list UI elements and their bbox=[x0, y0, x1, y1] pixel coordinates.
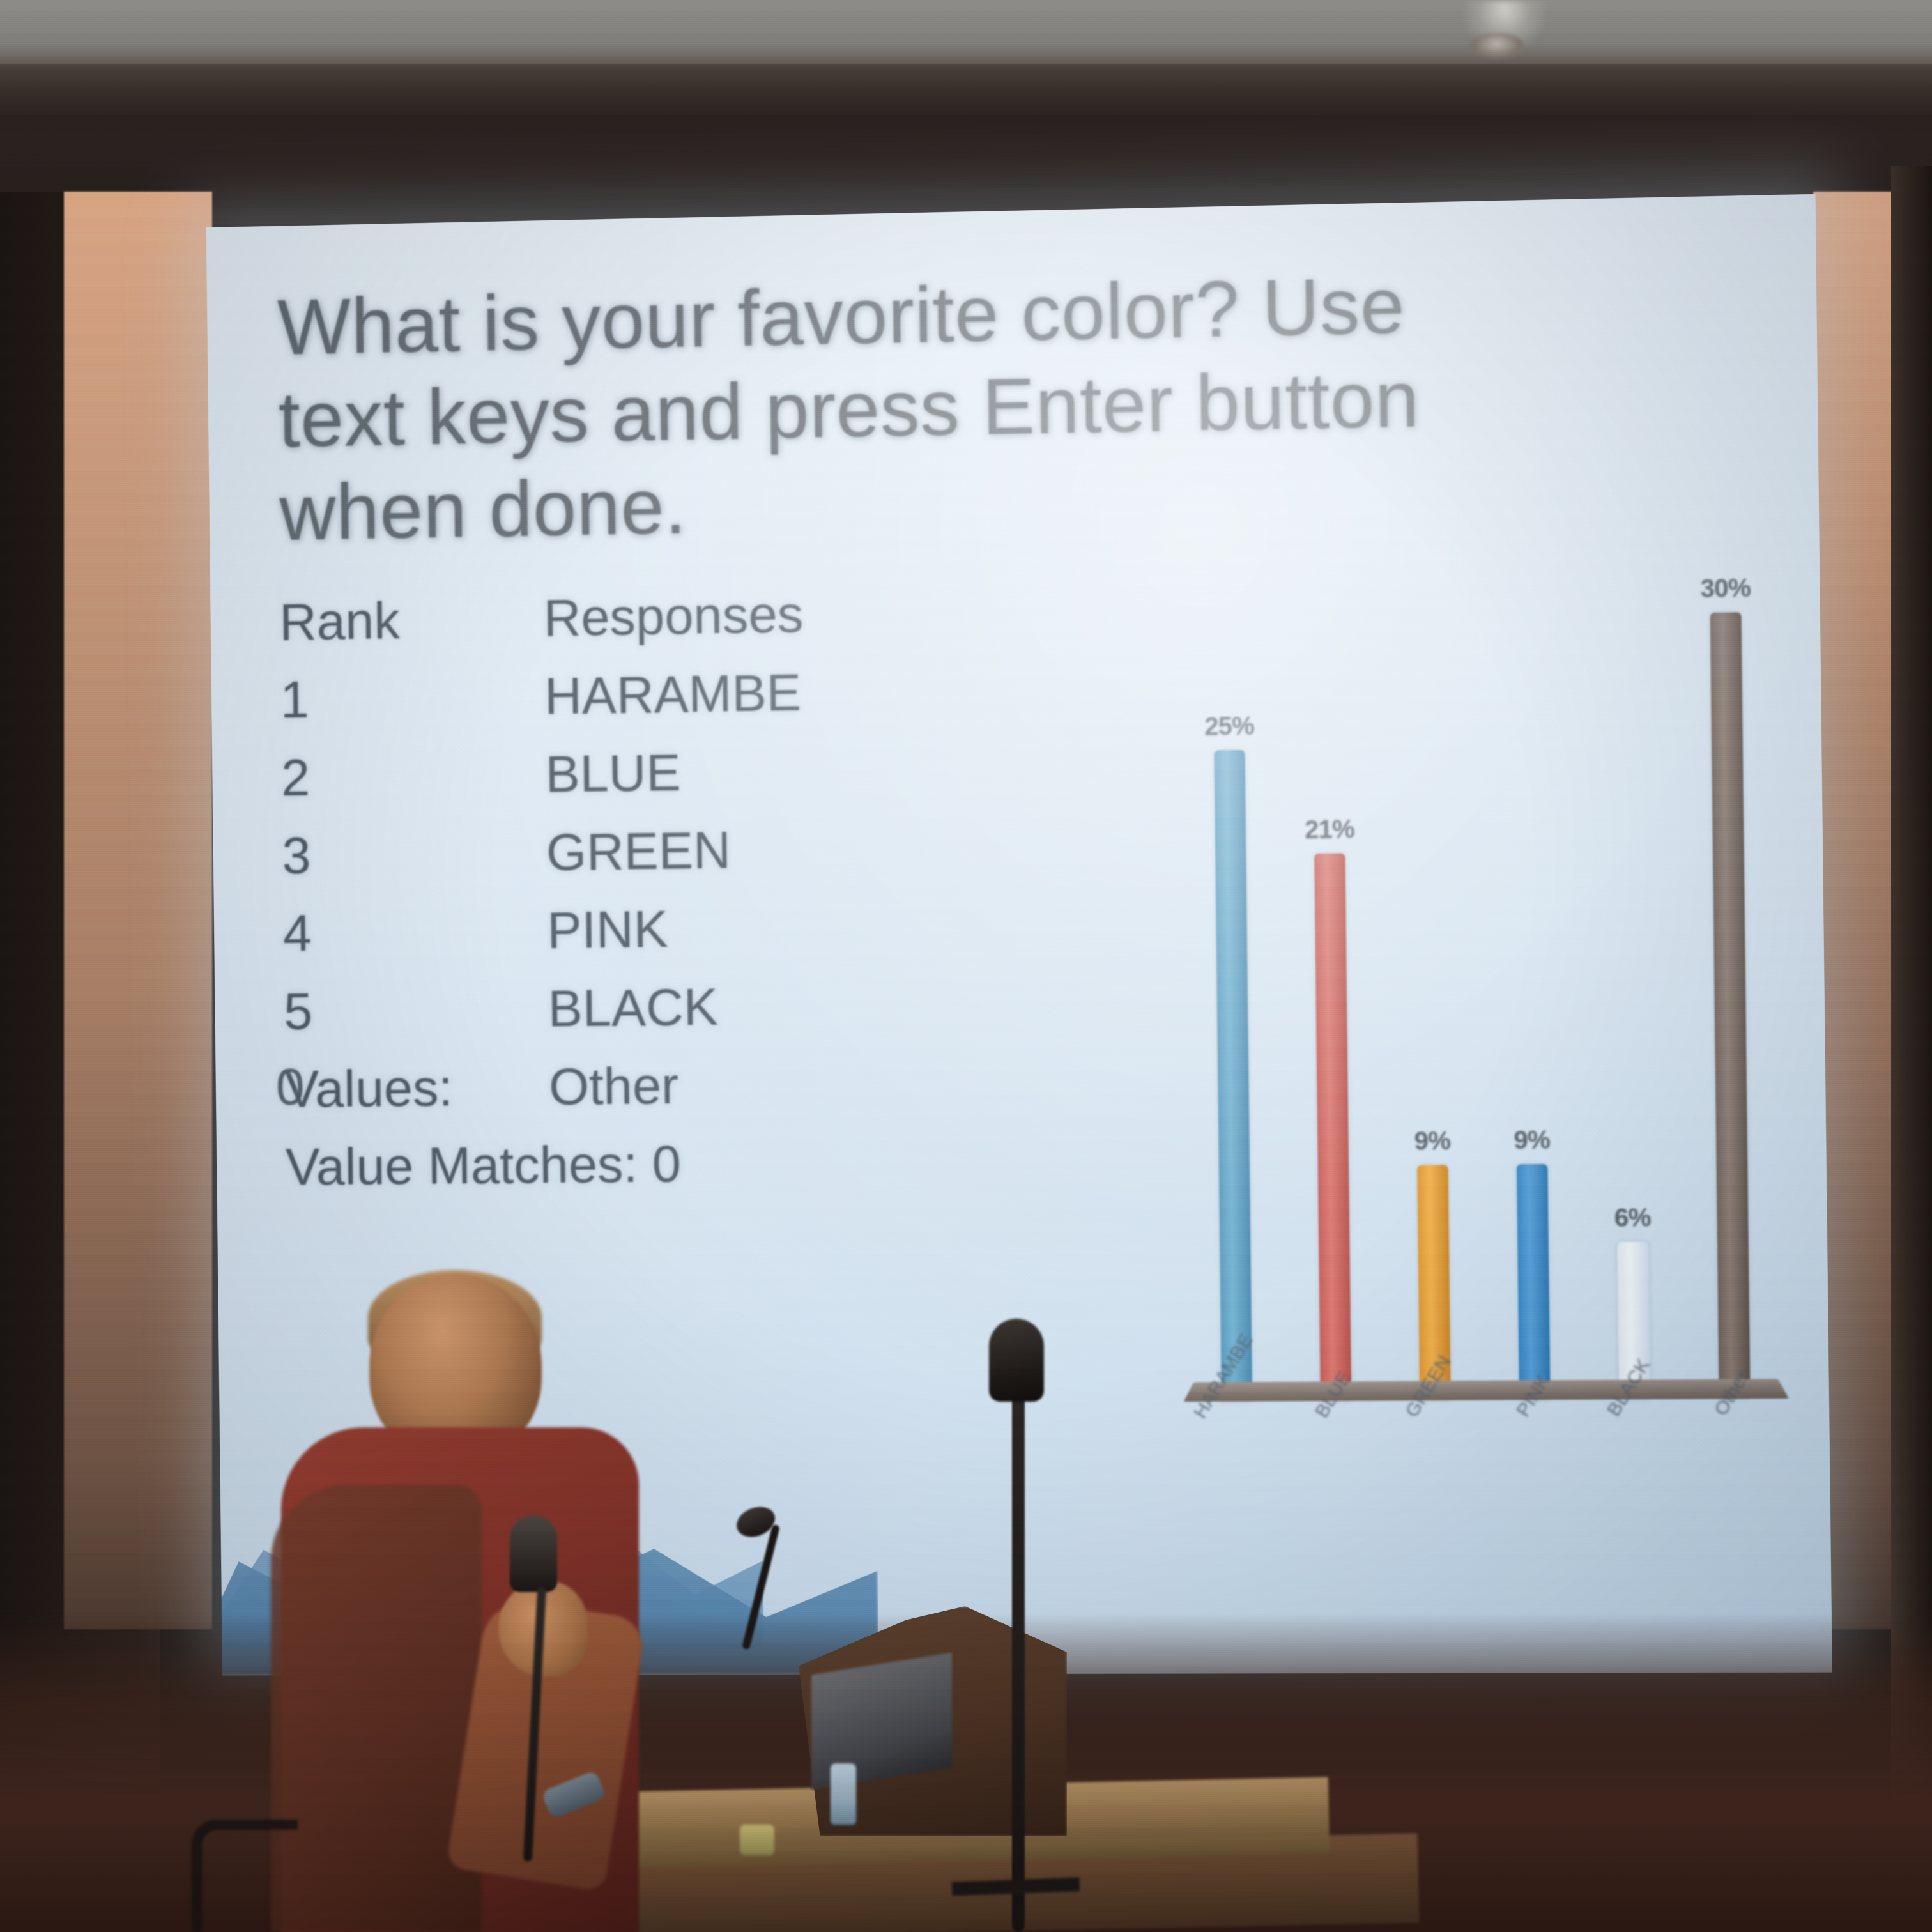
bar-value-label: 9% bbox=[1414, 1127, 1450, 1156]
chart-plot-area: 25% 21% 9% 9% bbox=[1178, 453, 1784, 1401]
values-row: 0 Values: Other bbox=[284, 1054, 955, 1138]
bar bbox=[1314, 853, 1351, 1400]
left-wall-panel bbox=[64, 192, 212, 1629]
microphone-stand-head-icon bbox=[989, 1319, 1044, 1402]
bar-value-label: 21% bbox=[1305, 815, 1354, 845]
values-value: Other bbox=[549, 1054, 956, 1117]
cell-rank: 2 bbox=[281, 745, 546, 808]
value-matches-label: Value Matches: 0 bbox=[286, 1132, 956, 1197]
cell-response: HARAMBE bbox=[544, 661, 951, 726]
bar-group: 21% bbox=[1296, 461, 1365, 1401]
bar-group: 6% bbox=[1595, 455, 1664, 1399]
chart-x-axis-labels: HARAMBE BLUE GREEN PINK BLACK Other bbox=[1208, 1403, 1765, 1514]
cell-response: BLUE bbox=[545, 739, 951, 804]
value-matches-row: Value Matches: 0 bbox=[286, 1132, 956, 1216]
values-overlap-digit: 0 bbox=[275, 1057, 305, 1117]
table-row: 1 HARAMBE bbox=[280, 661, 951, 749]
bar-group: 9% bbox=[1395, 459, 1464, 1400]
chart-bars: 25% 21% 9% 9% bbox=[1197, 454, 1764, 1402]
table-row: 2 BLUE bbox=[281, 739, 952, 826]
photo-scene: What is your favorite color? Use text ke… bbox=[0, 0, 1932, 1932]
cell-rank: 5 bbox=[284, 979, 548, 1042]
values-label: 0 Values: bbox=[284, 1057, 549, 1119]
speaker-shoulder bbox=[271, 1485, 482, 1932]
handheld-microphone-icon bbox=[510, 1515, 557, 1592]
bar bbox=[1214, 750, 1252, 1401]
bar-group: 30% bbox=[1694, 454, 1764, 1399]
axis-tick: HARAMBE bbox=[1208, 1406, 1267, 1514]
bar-value-label: 6% bbox=[1614, 1204, 1651, 1233]
chair-frame bbox=[192, 1820, 298, 1932]
bar-group: 9% bbox=[1495, 457, 1564, 1400]
microphone-stand-pole bbox=[1012, 1370, 1025, 1932]
bar-chart: 25% 21% 9% 9% bbox=[1178, 453, 1785, 1514]
bar-value-label: 25% bbox=[1204, 712, 1254, 742]
cell-response: BLACK bbox=[548, 975, 954, 1039]
table-row: 5 BLACK bbox=[284, 975, 954, 1060]
water-bottle bbox=[831, 1763, 856, 1825]
ceiling-vent-icon bbox=[1469, 33, 1524, 59]
bar-value-label: 30% bbox=[1700, 574, 1751, 604]
table-header-row: Rank Responses bbox=[279, 583, 950, 671]
bar-value-label: 9% bbox=[1514, 1126, 1550, 1155]
bar bbox=[1517, 1164, 1551, 1400]
column-header-responses: Responses bbox=[543, 583, 949, 649]
speaker bbox=[256, 1274, 703, 1932]
values-label-text: Values: bbox=[284, 1059, 453, 1119]
axis-tick: BLUE bbox=[1307, 1405, 1367, 1513]
bar-group: 25% bbox=[1197, 462, 1266, 1401]
cell-response: PINK bbox=[547, 896, 953, 961]
column-header-rank: Rank bbox=[279, 589, 544, 653]
response-table: Rank Responses 1 HARAMBE 2 BLUE 3 GREEN … bbox=[279, 583, 956, 1216]
bar bbox=[1710, 612, 1751, 1399]
cell-response: GREEN bbox=[546, 818, 952, 883]
cell-rank: 3 bbox=[282, 823, 546, 885]
table-row: 4 PINK bbox=[282, 896, 953, 982]
cell-rank: 1 bbox=[280, 667, 544, 730]
cup bbox=[740, 1825, 774, 1855]
table-row: 3 GREEN bbox=[282, 818, 953, 904]
cell-rank: 4 bbox=[282, 901, 547, 964]
